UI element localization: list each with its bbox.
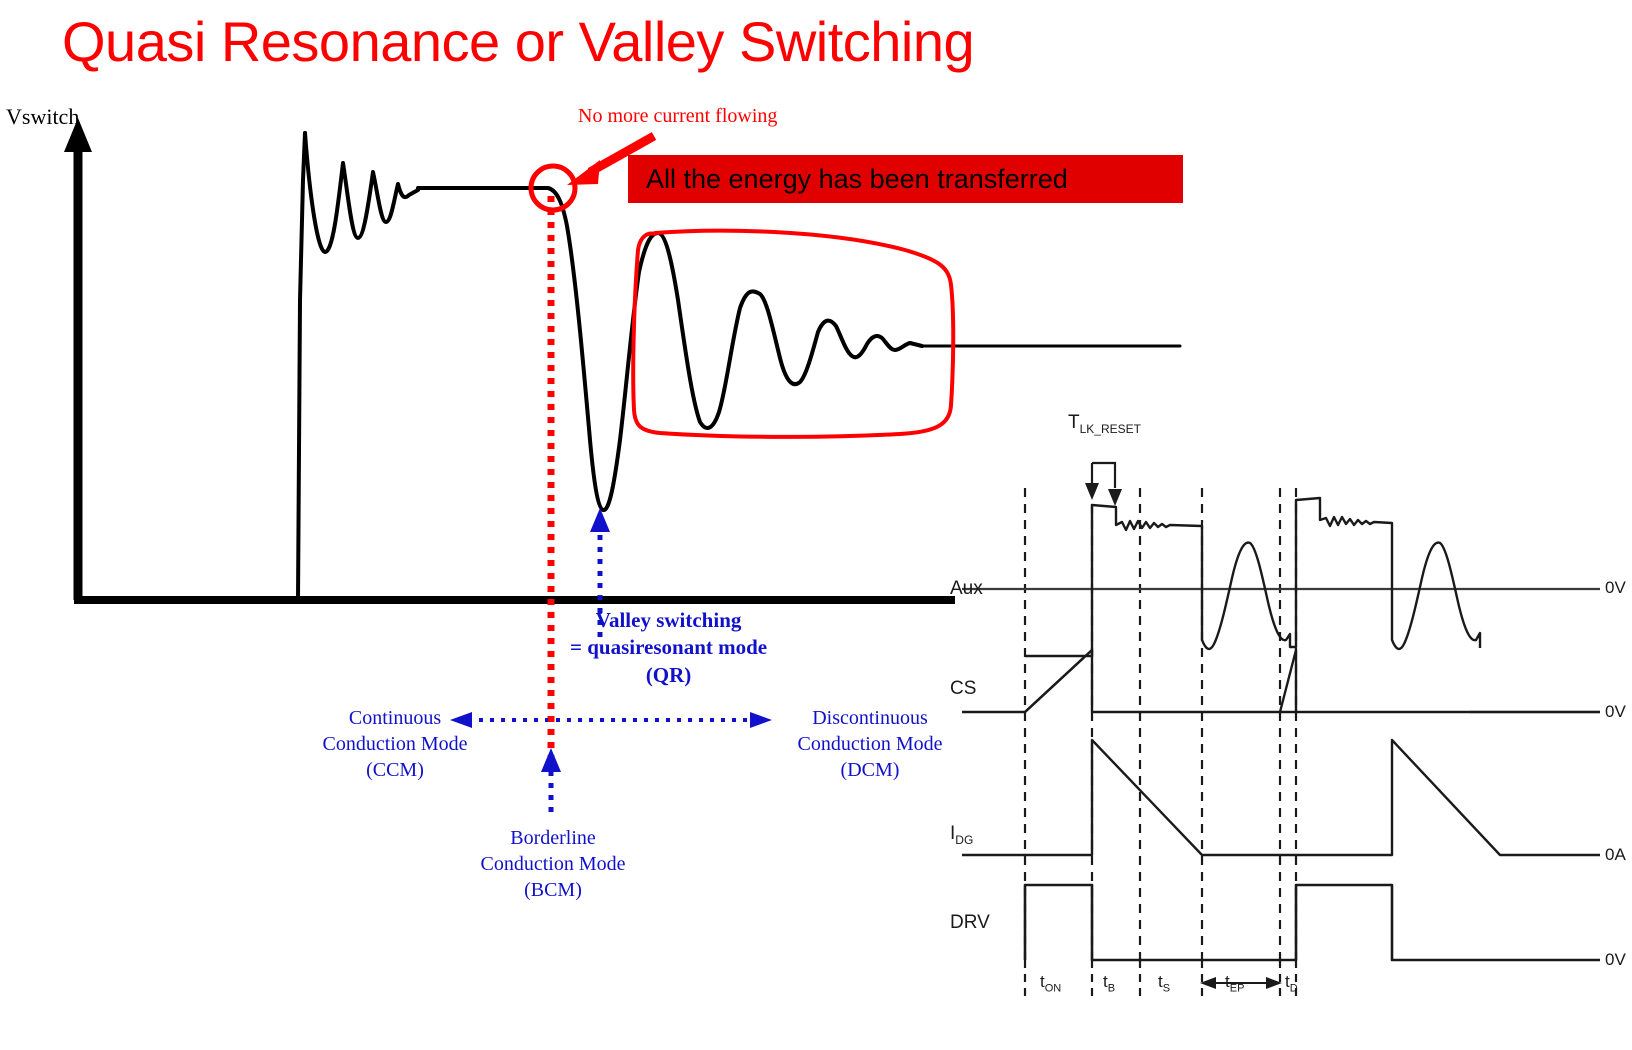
time-label-tb-sub: B — [1108, 982, 1115, 994]
y-axis — [64, 118, 92, 600]
time-label-ton-sub: ON — [1045, 982, 1062, 994]
dcm-annotation: Discontinuous Conduction Mode (DCM) — [775, 705, 965, 783]
dcm-line1: Discontinuous — [775, 705, 965, 731]
bcm-line1: Borderline — [455, 825, 651, 851]
ccm-annotation: Continuous Conduction Mode (CCM) — [300, 705, 490, 783]
ccm-line1: Continuous — [300, 705, 490, 731]
tlk-reset-arrow-right — [1108, 489, 1122, 506]
reference-label-aux: 0V — [1605, 578, 1626, 598]
time-label-ton: tON — [1040, 972, 1061, 994]
time-label-tep: tEP — [1225, 972, 1244, 994]
valley-switching-line3: (QR) — [570, 662, 767, 689]
reference-label-drv: 0V — [1605, 950, 1626, 970]
reference-label-cs: 0V — [1605, 702, 1626, 722]
bcm-pointer-arrow — [541, 748, 561, 812]
time-label-ts: tS — [1158, 972, 1170, 994]
tlk-reset-arrow-left — [1085, 483, 1099, 500]
ccm-dcm-axis — [450, 712, 772, 728]
bcm-line3: (BCM) — [455, 877, 651, 903]
ccm-line2: Conduction Mode — [300, 731, 490, 757]
dcm-line3: (DCM) — [775, 757, 965, 783]
drv-waveform — [1025, 885, 1600, 960]
time-label-tep-sub: EP — [1230, 982, 1245, 994]
energy-transferred-banner-text: All the energy has been transferred — [628, 164, 1068, 195]
tlk-reset-label: TLK_RESET — [1068, 412, 1141, 436]
tlk-reset-label-main: T — [1068, 412, 1080, 433]
timing-diagram-svg — [940, 400, 1632, 1000]
time-label-td: tD — [1285, 972, 1298, 994]
valley-switching-annotation: Valley switching = quasiresonant mode (Q… — [570, 607, 767, 689]
energy-transferred-banner: All the energy has been transferred — [628, 155, 1183, 203]
signal-label-aux: Aux — [950, 578, 983, 600]
tlk-reset-label-sub: LK_RESET — [1080, 422, 1141, 436]
aux-waveform — [1025, 498, 1480, 656]
valley-switching-line1: Valley switching — [570, 607, 767, 634]
timing-diagram: TLK_RESET Aux CS IDG DRV 0V 0V 0A 0V tON… — [940, 400, 1632, 1000]
dcm-line2: Conduction Mode — [775, 731, 965, 757]
ccm-line3: (CCM) — [300, 757, 490, 783]
signal-label-idg-sub: DG — [955, 833, 973, 847]
signal-label-drv: DRV — [950, 912, 990, 934]
time-label-tb: tB — [1103, 972, 1115, 994]
timing-guide-lines — [1025, 488, 1296, 960]
time-label-td-sub: D — [1290, 982, 1298, 994]
time-label-ts-sub: S — [1163, 982, 1170, 994]
valley-switching-line2: = quasiresonant mode — [570, 634, 767, 661]
signal-label-cs: CS — [950, 678, 976, 700]
valley-pointer-arrow — [590, 508, 610, 600]
bcm-line2: Conduction Mode — [455, 851, 651, 877]
signal-label-idg: IDG — [950, 823, 973, 847]
y-axis-label: Vswitch — [6, 104, 79, 130]
bcm-annotation: Borderline Conduction Mode (BCM) — [455, 825, 651, 903]
reference-label-idg: 0A — [1605, 845, 1626, 865]
no-more-current-annotation: No more current flowing — [578, 105, 777, 128]
